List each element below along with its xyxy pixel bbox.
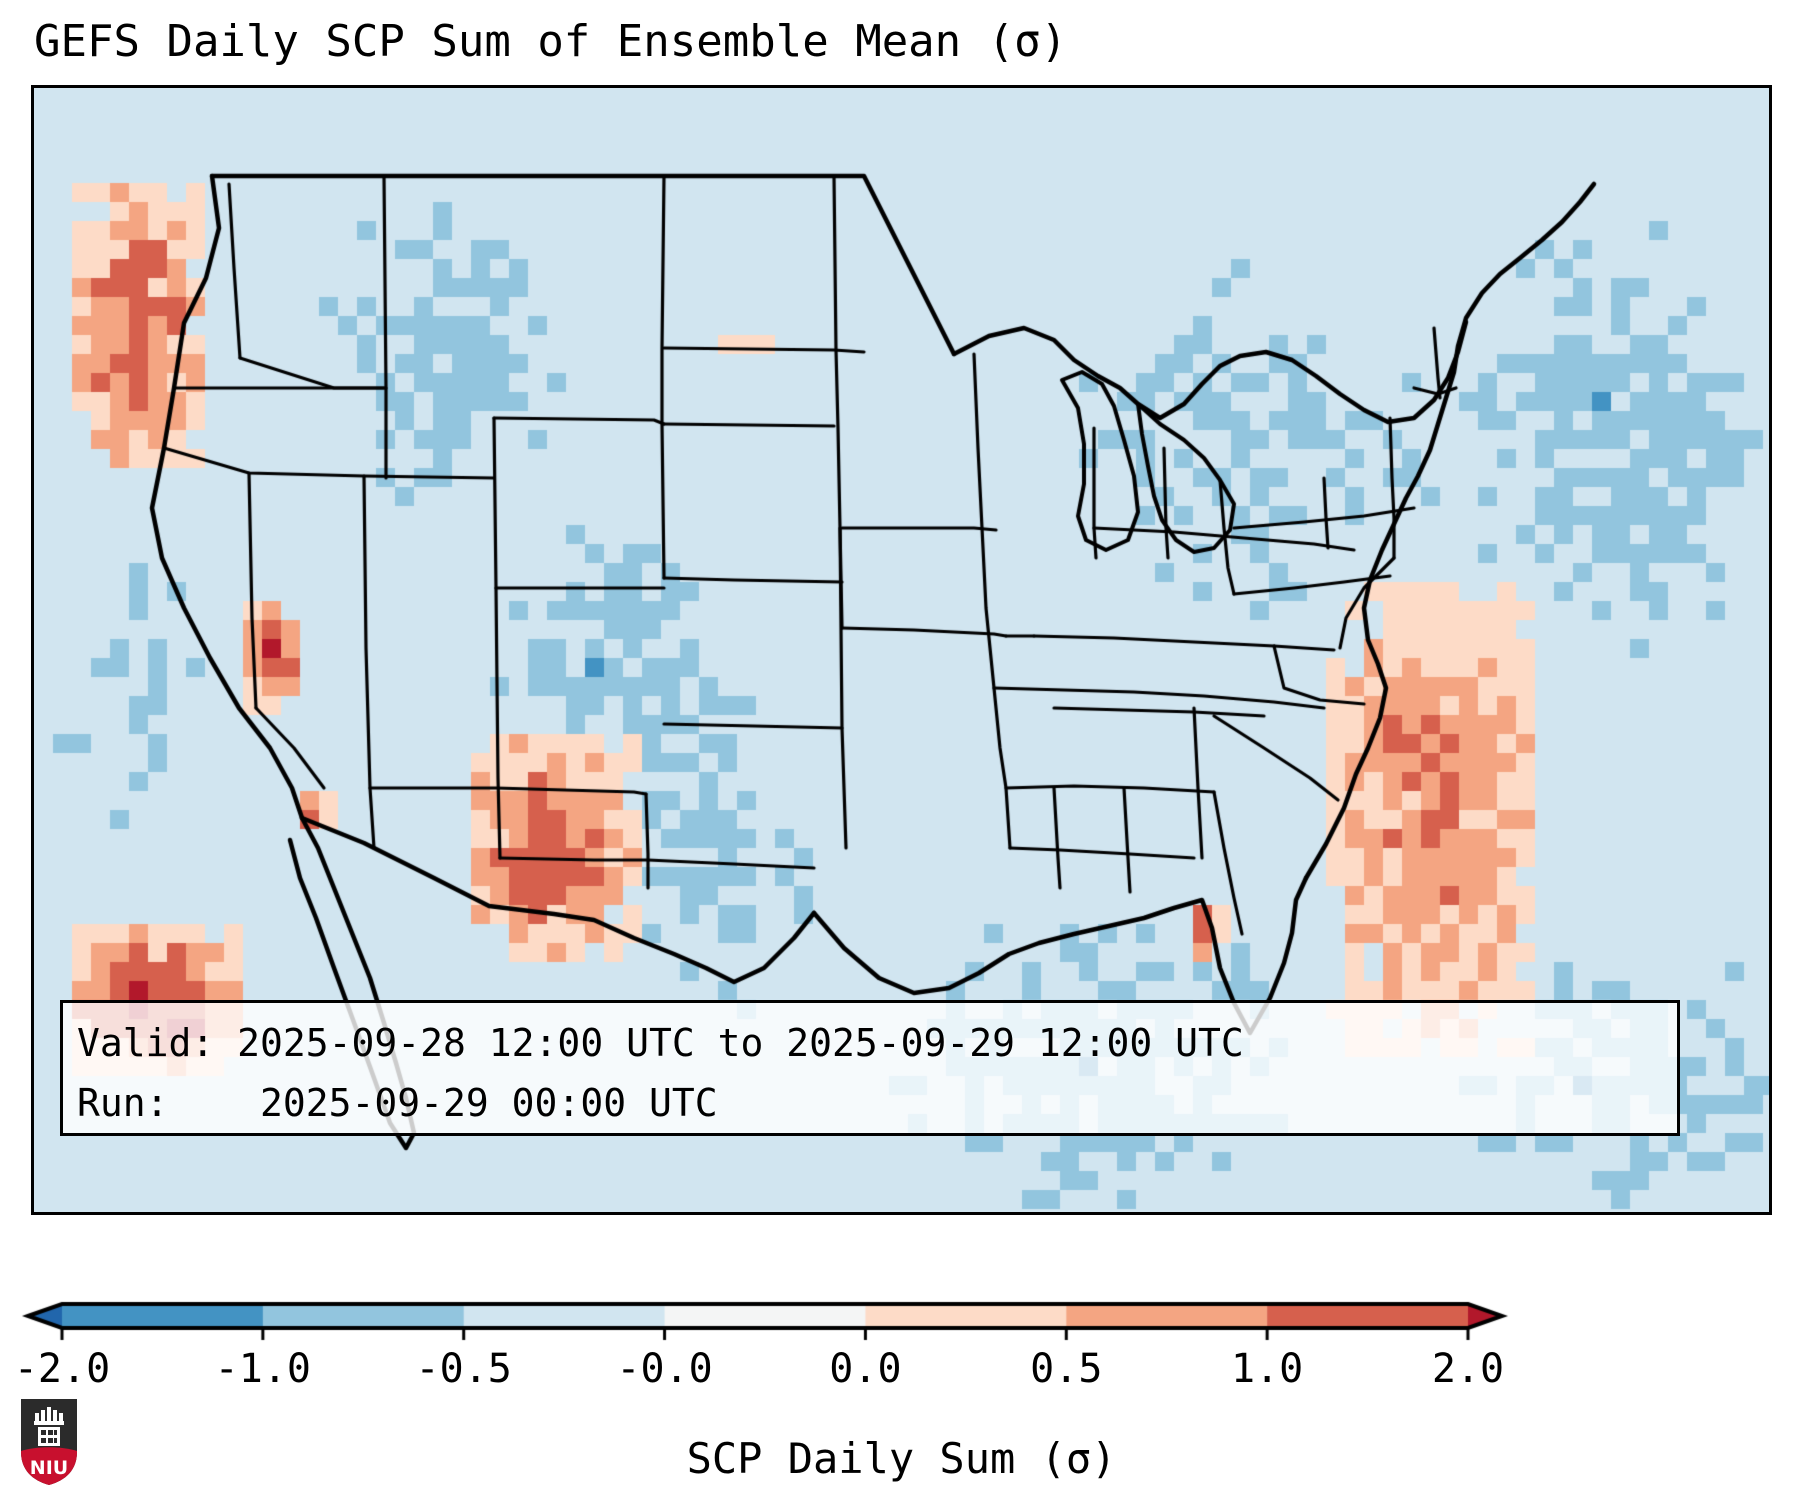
annotation-box: Valid: 2025-09-28 12:00 UTC to 2025-09-2…	[60, 1000, 1680, 1136]
figure-root: GEFS Daily SCP Sum of Ensemble Mean (σ) …	[0, 0, 1803, 1506]
annotation-valid-line: Valid: 2025-09-28 12:00 UTC to 2025-09-2…	[77, 1013, 1663, 1073]
colorbar-tick-4: 0.0	[829, 1346, 901, 1392]
niu-logo-text: NIU	[30, 1457, 68, 1479]
colorbar-tick-5: 0.5	[1030, 1346, 1102, 1392]
colorbar-tick-1: -1.0	[215, 1346, 311, 1392]
colorbar-gradient[interactable]	[0, 1296, 1803, 1342]
colorbar-tick-7: 2.0	[1432, 1346, 1504, 1392]
map-panel[interactable]: Valid: 2025-09-28 12:00 UTC to 2025-09-2…	[31, 85, 1772, 1215]
colorbar-axis-label: SCP Daily Sum (σ)	[0, 1434, 1803, 1483]
colorbar-tick-6: 1.0	[1231, 1346, 1303, 1392]
page-title: GEFS Daily SCP Sum of Ensemble Mean (σ)	[34, 16, 1067, 67]
niu-logo: NIU	[18, 1396, 80, 1488]
annotation-run-line: Run: 2025-09-29 00:00 UTC	[77, 1073, 1663, 1133]
colorbar-tick-0: -2.0	[14, 1346, 110, 1392]
colorbar-tick-3: -0.0	[616, 1346, 712, 1392]
colorbar[interactable]: -2.0-1.0-0.5-0.00.00.51.02.0	[0, 1296, 1803, 1356]
colorbar-tick-2: -0.5	[416, 1346, 512, 1392]
